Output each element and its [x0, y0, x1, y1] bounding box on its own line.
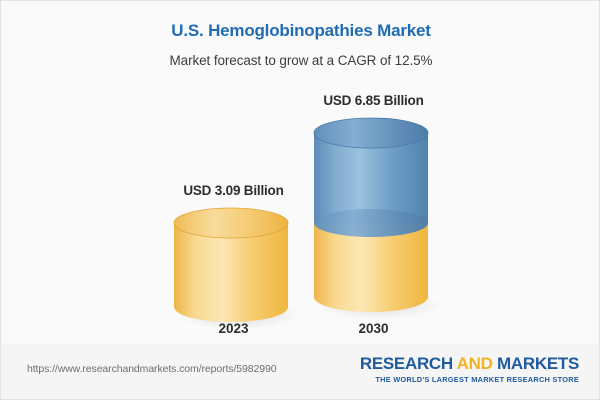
category-label-2023: 2023: [161, 321, 306, 336]
report-url[interactable]: https://www.researchandmarkets.com/repor…: [27, 363, 276, 375]
category-label-2030: 2030: [301, 321, 446, 336]
value-label-2030: USD 6.85 Billion: [301, 93, 446, 108]
brand-logo-text: RESEARCH AND MARKETS: [360, 355, 579, 373]
bar-group-2030: USD 6.85 Billion: [301, 1, 446, 346]
bar-group-2023: USD 3.09 Billion: [161, 1, 306, 346]
brand-logo-research: RESEARCH: [360, 354, 457, 373]
cylinder-2023[interactable]: [161, 207, 306, 337]
cylinder-2030[interactable]: [301, 117, 446, 327]
value-label-2023: USD 3.09 Billion: [161, 183, 306, 198]
brand-logo[interactable]: RESEARCH AND MARKETS THE WORLD'S LARGEST…: [360, 355, 579, 384]
brand-tagline: THE WORLD'S LARGEST MARKET RESEARCH STOR…: [360, 375, 579, 384]
footer: https://www.researchandmarkets.com/repor…: [1, 344, 600, 399]
infographic-card: U.S. Hemoglobinopathies Market Market fo…: [0, 0, 600, 400]
plot-area: USD 3.09 Billion: [1, 1, 600, 346]
brand-logo-markets: MARKETS: [493, 354, 579, 373]
brand-logo-and: AND: [457, 354, 493, 373]
